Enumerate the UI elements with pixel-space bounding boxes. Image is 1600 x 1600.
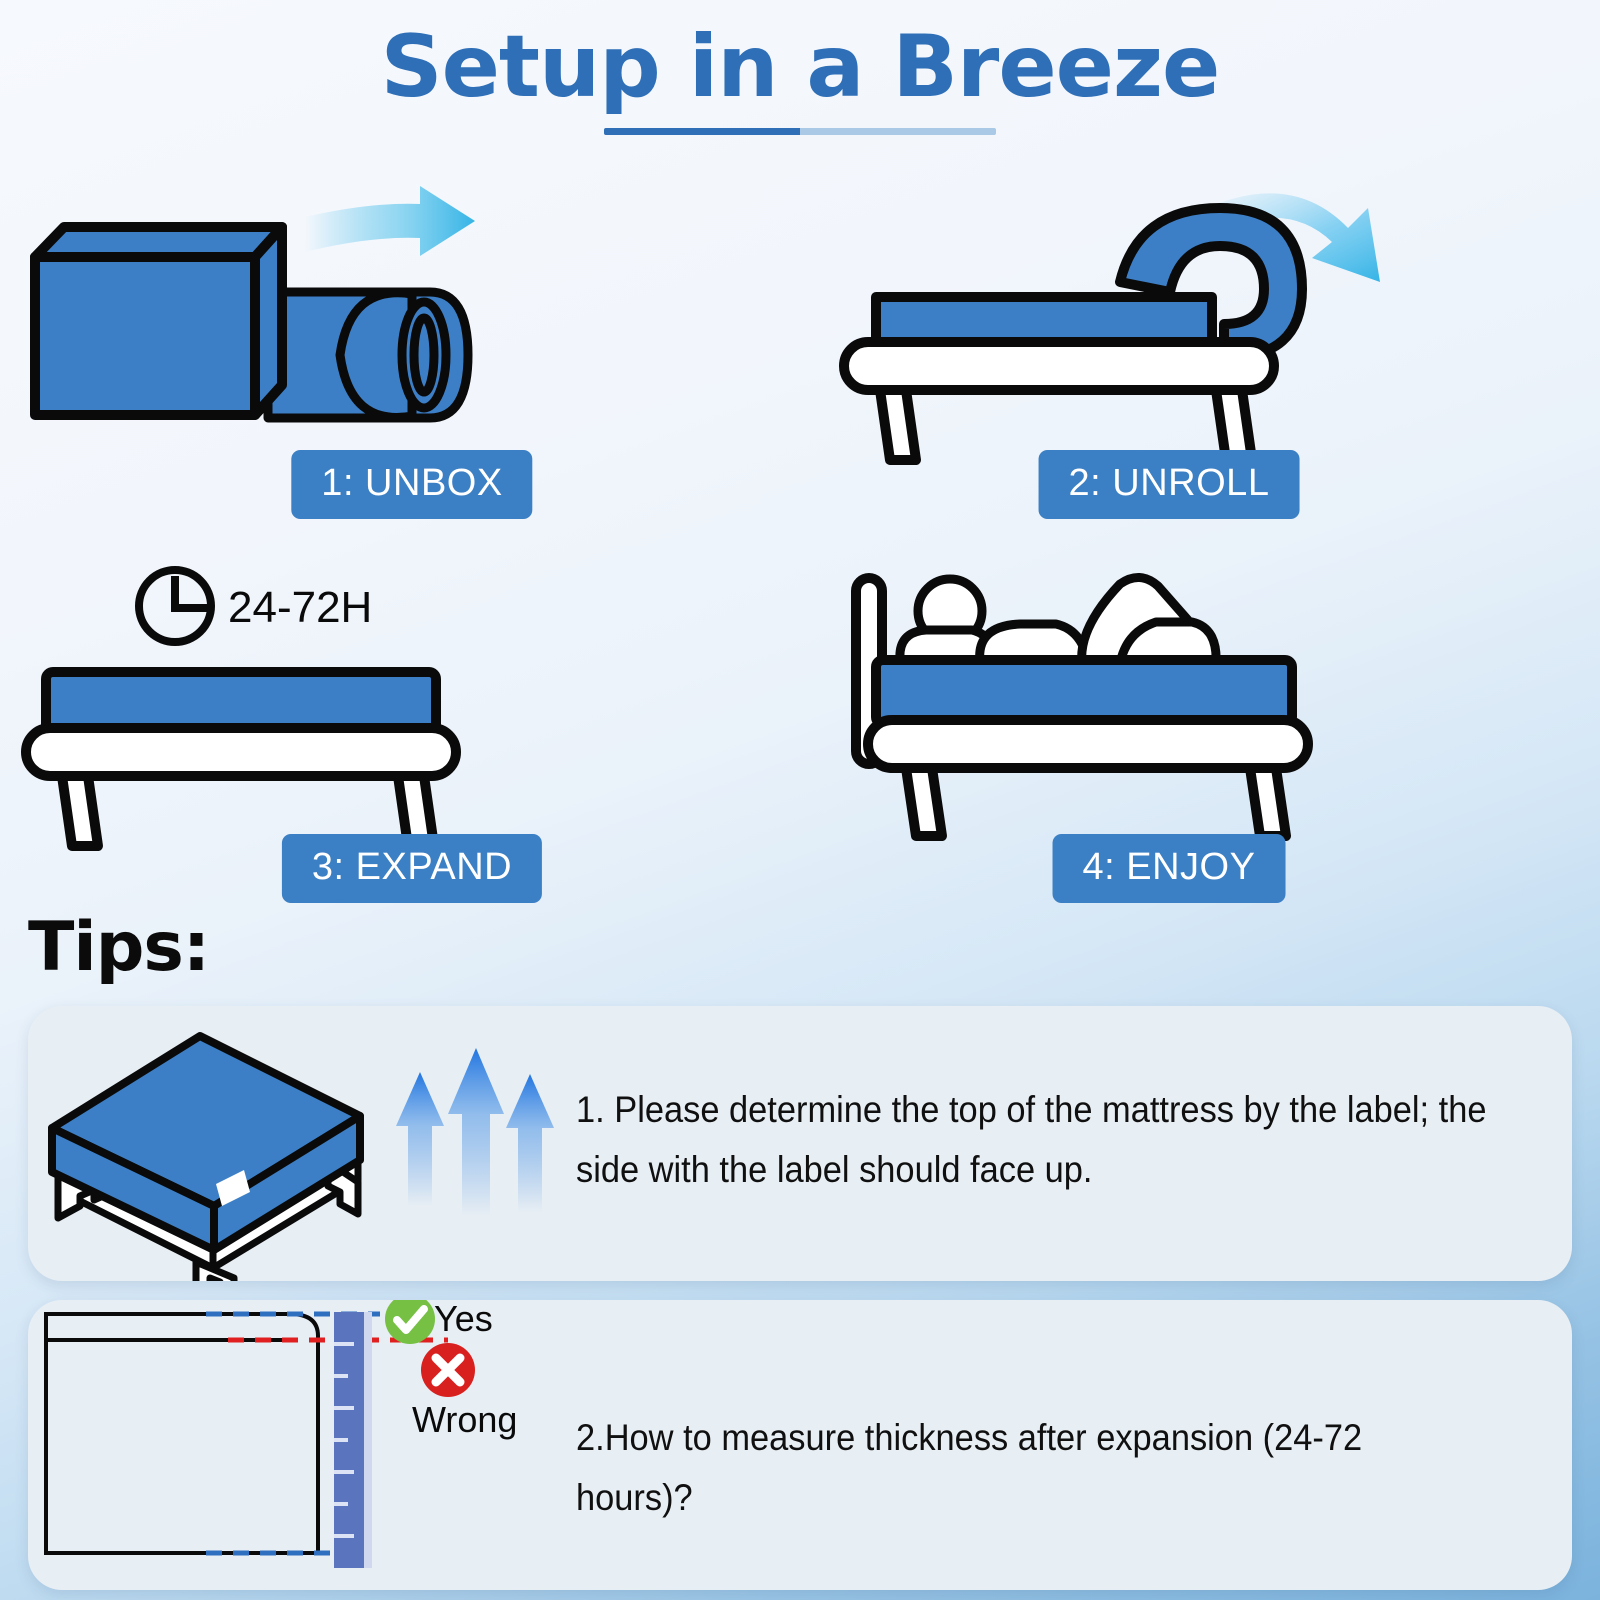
- step-card-enjoy: 4: ENJOY: [820, 544, 1580, 874]
- step-label-unroll: 2: UNROLL: [1039, 450, 1300, 519]
- isometric-mattress-on-frame-icon: [28, 1006, 558, 1281]
- title-underline-left: [604, 128, 800, 135]
- step-card-unroll: 2: UNROLL: [820, 172, 1580, 502]
- mattress-thickness-ruler-icon: Yes Wrong: [28, 1300, 558, 1590]
- page-header: Setup in a Breeze: [0, 22, 1600, 135]
- page-title: Setup in a Breeze: [0, 22, 1600, 112]
- title-underline: [604, 128, 996, 135]
- tip-card-label-orientation: 1. Please determine the top of the mattr…: [28, 1006, 1572, 1281]
- setup-steps: 1: UNBOX 2: [0, 172, 1600, 872]
- expand-duration-text: 24-72H: [228, 583, 372, 632]
- yes-check-icon: [385, 1300, 435, 1344]
- yes-label: Yes: [434, 1300, 493, 1339]
- step-card-expand: 24-72H 3: EXPAND: [20, 544, 780, 874]
- step-card-unbox: 1: UNBOX: [20, 172, 780, 502]
- tip-card-measure-thickness: Yes Wrong 2.How to measure thickness aft…: [28, 1300, 1572, 1590]
- wrong-x-icon: [421, 1343, 475, 1397]
- bed-with-sleeping-person-icon: [820, 544, 1580, 874]
- tip-text-2: 2.How to measure thickness after expansi…: [576, 1408, 1469, 1528]
- three-up-arrows-icon: [396, 1048, 554, 1216]
- tip-text-1: 1. Please determine the top of the mattr…: [576, 1080, 1515, 1200]
- step-label-unbox: 1: UNBOX: [291, 450, 532, 519]
- tips-heading: Tips:: [28, 908, 209, 987]
- step-label-enjoy: 4: ENJOY: [1053, 834, 1286, 903]
- title-underline-right: [800, 128, 996, 135]
- ruler-icon: [334, 1312, 372, 1568]
- clock-icon: [139, 570, 211, 642]
- bed-with-flat-mattress-icon: 24-72H: [20, 544, 780, 874]
- wrong-label: Wrong: [412, 1399, 517, 1440]
- step-label-expand: 3: EXPAND: [282, 834, 542, 903]
